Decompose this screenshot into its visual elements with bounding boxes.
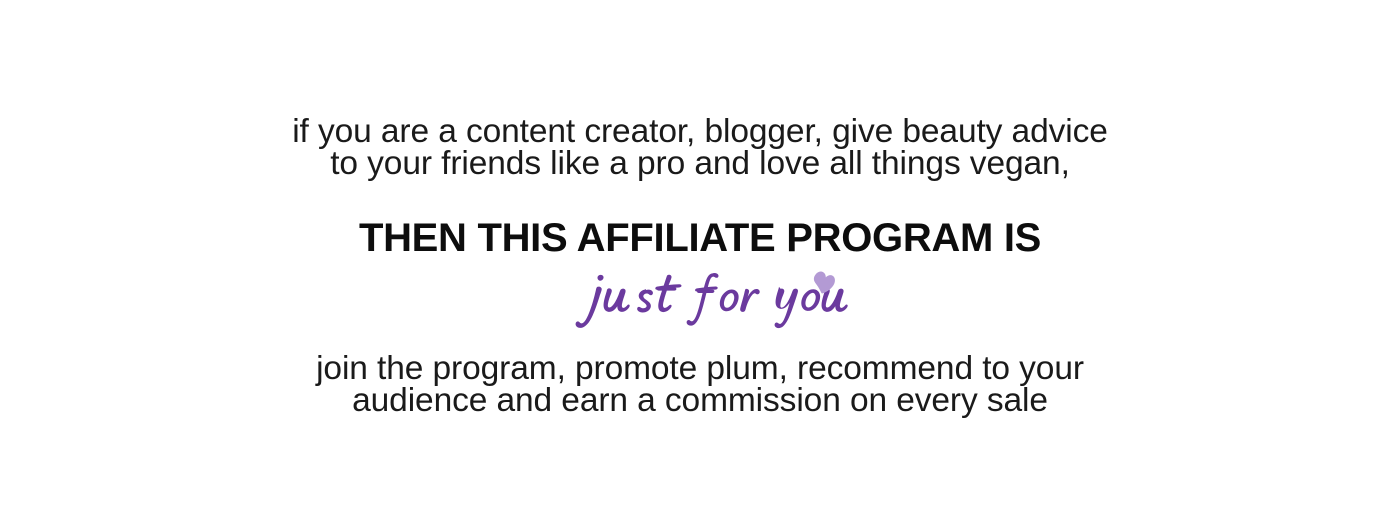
script-lockup: just for you bbox=[0, 258, 1400, 338]
headline: THEN THIS AFFILIATE PROGRAM IS bbox=[0, 216, 1400, 260]
outro-paragraph: join the program, promote plum, recommen… bbox=[0, 353, 1400, 417]
affiliate-program-banner: if you are a content creator, blogger, g… bbox=[0, 0, 1400, 529]
outro-line-2: audience and earn a commission on every … bbox=[0, 385, 1400, 417]
script-strokes bbox=[576, 273, 848, 328]
outro-line-1: join the program, promote plum, recommen… bbox=[0, 353, 1400, 385]
intro-line-1: if you are a content creator, blogger, g… bbox=[0, 116, 1400, 148]
heart-icon bbox=[814, 272, 835, 294]
intro-paragraph: if you are a content creator, blogger, g… bbox=[0, 116, 1400, 180]
intro-line-2: to your friends like a pro and love all … bbox=[0, 148, 1400, 180]
just-for-you-script bbox=[564, 258, 836, 338]
